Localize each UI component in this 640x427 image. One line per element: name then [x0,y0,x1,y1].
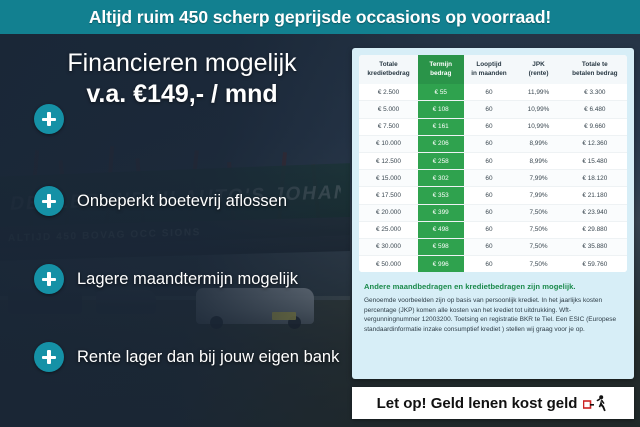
financing-rates-card: Totalekredietbedrag Termijnbedrag Loopti… [352,48,634,379]
table-cell: 11,99% [514,84,562,101]
rates-table-container: Totalekredietbedrag Termijnbedrag Loopti… [359,55,627,272]
table-cell: € 20.000 [359,204,418,221]
table-cell: € 498 [418,221,464,238]
benefit-label: Lagere maandtermijn mogelijk [77,270,298,289]
table-cell: € 21.180 [563,187,627,204]
table-cell: € 25.000 [359,221,418,238]
table-row: € 50.000€ 996607,50%€ 59.760 [359,256,627,273]
table-cell: 7,99% [514,187,562,204]
table-cell: 60 [464,170,515,187]
table-cell: € 15.480 [563,152,627,169]
table-cell: 8,99% [514,152,562,169]
table-cell: € 18.120 [563,170,627,187]
list-item: Onbeperkt boetevrij aflossen [34,184,352,218]
table-row: € 10.000€ 206608,99%€ 12.360 [359,135,627,152]
table-cell: 60 [464,238,515,255]
table-cell: € 108 [418,101,464,118]
table-row: € 30.000€ 598607,50%€ 35.880 [359,238,627,255]
rates-table-head: Totalekredietbedrag Termijnbedrag Loopti… [359,55,627,84]
table-cell: € 6.480 [563,101,627,118]
table-cell: 60 [464,204,515,221]
table-cell: 7,50% [514,238,562,255]
table-row: € 25.000€ 498607,50%€ 29.880 [359,221,627,238]
table-header-row: Totalekredietbedrag Termijnbedrag Loopti… [359,55,627,84]
afm-running-man-icon [583,394,609,412]
table-cell: € 302 [418,170,464,187]
table-row: € 20.000€ 399607,50%€ 23.940 [359,204,627,221]
rates-table-body: € 2.500€ 556011,99%€ 3.300€ 5.000€ 10860… [359,84,627,272]
column-header-totaal-kredietbedrag: Totalekredietbedrag [359,55,418,84]
top-banner: Altijd ruim 450 scherp geprijsde occasio… [0,0,640,34]
table-cell: 60 [464,84,515,101]
table-cell: 7,50% [514,204,562,221]
table-cell: € 55 [418,84,464,101]
main-headline-line1: Financieren mogelijk [22,48,342,78]
column-header-termijn-bedrag: Termijnbedrag [418,55,464,84]
column-header-jpk: JPK(rente) [514,55,562,84]
table-cell: 60 [464,118,515,135]
benefit-label: Rente lager dan bij jouw eigen bank [77,348,339,367]
table-cell: € 17.500 [359,187,418,204]
table-cell: € 9.660 [563,118,627,135]
column-header-looptijd: Looptijdin maanden [464,55,515,84]
disclaimer-block: Andere maandbedragen en kredietbedragen … [352,272,634,334]
table-cell: 60 [464,101,515,118]
table-cell: 60 [464,187,515,204]
benefit-list: Onbeperkt boetevrij aflossen Lagere maan… [34,184,352,374]
table-cell: 7,50% [514,256,562,273]
table-cell: € 7.500 [359,118,418,135]
table-cell: € 399 [418,204,464,221]
table-cell: € 996 [418,256,464,273]
table-cell: € 12.500 [359,152,418,169]
table-cell: € 5.000 [359,101,418,118]
table-cell: € 35.880 [563,238,627,255]
table-cell: € 23.940 [563,204,627,221]
table-cell: € 258 [418,152,464,169]
disclaimer-body: Genoemde voorbeelden zijn op basis van p… [364,296,622,334]
table-row: € 17.500€ 353607,99%€ 21.180 [359,187,627,204]
table-cell: € 353 [418,187,464,204]
table-cell: € 2.500 [359,84,418,101]
left-content-panel: Financieren mogelijk v.a. €149,- / mnd O… [0,34,352,427]
table-cell: 60 [464,221,515,238]
promo-banner-root: DEALER INRUILAUTO'S JOHAN MEURE ALTIJD 4… [0,0,640,427]
table-cell: € 15.000 [359,170,418,187]
table-cell: € 161 [418,118,464,135]
table-cell: € 206 [418,135,464,152]
top-banner-headline: Altijd ruim 450 scherp geprijsde occasio… [89,7,551,28]
table-row: € 12.500€ 258608,99%€ 15.480 [359,152,627,169]
table-cell: 8,99% [514,135,562,152]
table-cell: 60 [464,135,515,152]
rates-table: Totalekredietbedrag Termijnbedrag Loopti… [359,55,627,272]
table-cell: € 50.000 [359,256,418,273]
table-row: € 7.500€ 1616010,99%€ 9.660 [359,118,627,135]
table-cell: € 59.760 [563,256,627,273]
table-cell: € 3.300 [563,84,627,101]
table-cell: € 29.880 [563,221,627,238]
table-cell: € 30.000 [359,238,418,255]
table-row: € 5.000€ 1086010,99%€ 6.480 [359,101,627,118]
table-cell: € 10.000 [359,135,418,152]
legal-warning-text: Let op! Geld lenen kost geld [377,395,578,412]
list-item: Rente lager dan bij jouw eigen bank [34,340,352,374]
legal-warning-strip: Let op! Geld lenen kost geld [352,387,634,419]
table-cell: 60 [464,152,515,169]
main-headline: Financieren mogelijk v.a. €149,- / mnd [22,48,342,110]
plus-icon [34,342,64,372]
table-row: € 15.000€ 302607,99%€ 18.120 [359,170,627,187]
table-cell: 7,99% [514,170,562,187]
benefit-label: Onbeperkt boetevrij aflossen [77,192,287,211]
table-cell: 10,99% [514,118,562,135]
table-cell: € 598 [418,238,464,255]
table-cell: € 12.360 [563,135,627,152]
main-headline-line2: v.a. €149,- / mnd [22,78,342,110]
table-cell: 7,50% [514,221,562,238]
table-cell: 10,99% [514,101,562,118]
column-header-totaal-te-betalen: Totale tebetalen bedrag [563,55,627,84]
table-cell: 60 [464,256,515,273]
disclaimer-heading: Andere maandbedragen en kredietbedragen … [364,282,622,291]
table-row: € 2.500€ 556011,99%€ 3.300 [359,84,627,101]
plus-icon [34,104,64,134]
plus-icon [34,186,64,216]
plus-icon [34,264,64,294]
list-item: Lagere maandtermijn mogelijk [34,262,352,296]
